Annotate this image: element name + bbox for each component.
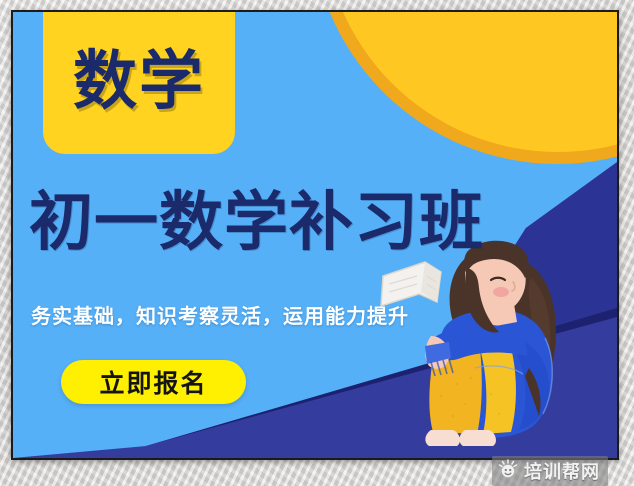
smiley-face-icon (498, 459, 518, 484)
subject-tag-badge: 数学 (43, 10, 235, 154)
course-poster-card: 数学 初一数学补习班 务实基础，知识考察灵活，运用能力提升 立即报名 (11, 10, 619, 460)
site-watermark: 培训帮网 (492, 456, 608, 486)
watermark-text: 培训帮网 (524, 458, 600, 484)
enroll-now-button[interactable]: 立即报名 (61, 360, 246, 404)
poster-subtitle: 务实基础，知识考察灵活，运用能力提升 (31, 300, 409, 329)
poster-headline: 初一数学补习班 (29, 190, 605, 257)
subject-tag-label: 数学 (73, 50, 205, 114)
yellow-arc-shape (323, 10, 619, 152)
enroll-now-label: 立即报名 (99, 364, 207, 400)
